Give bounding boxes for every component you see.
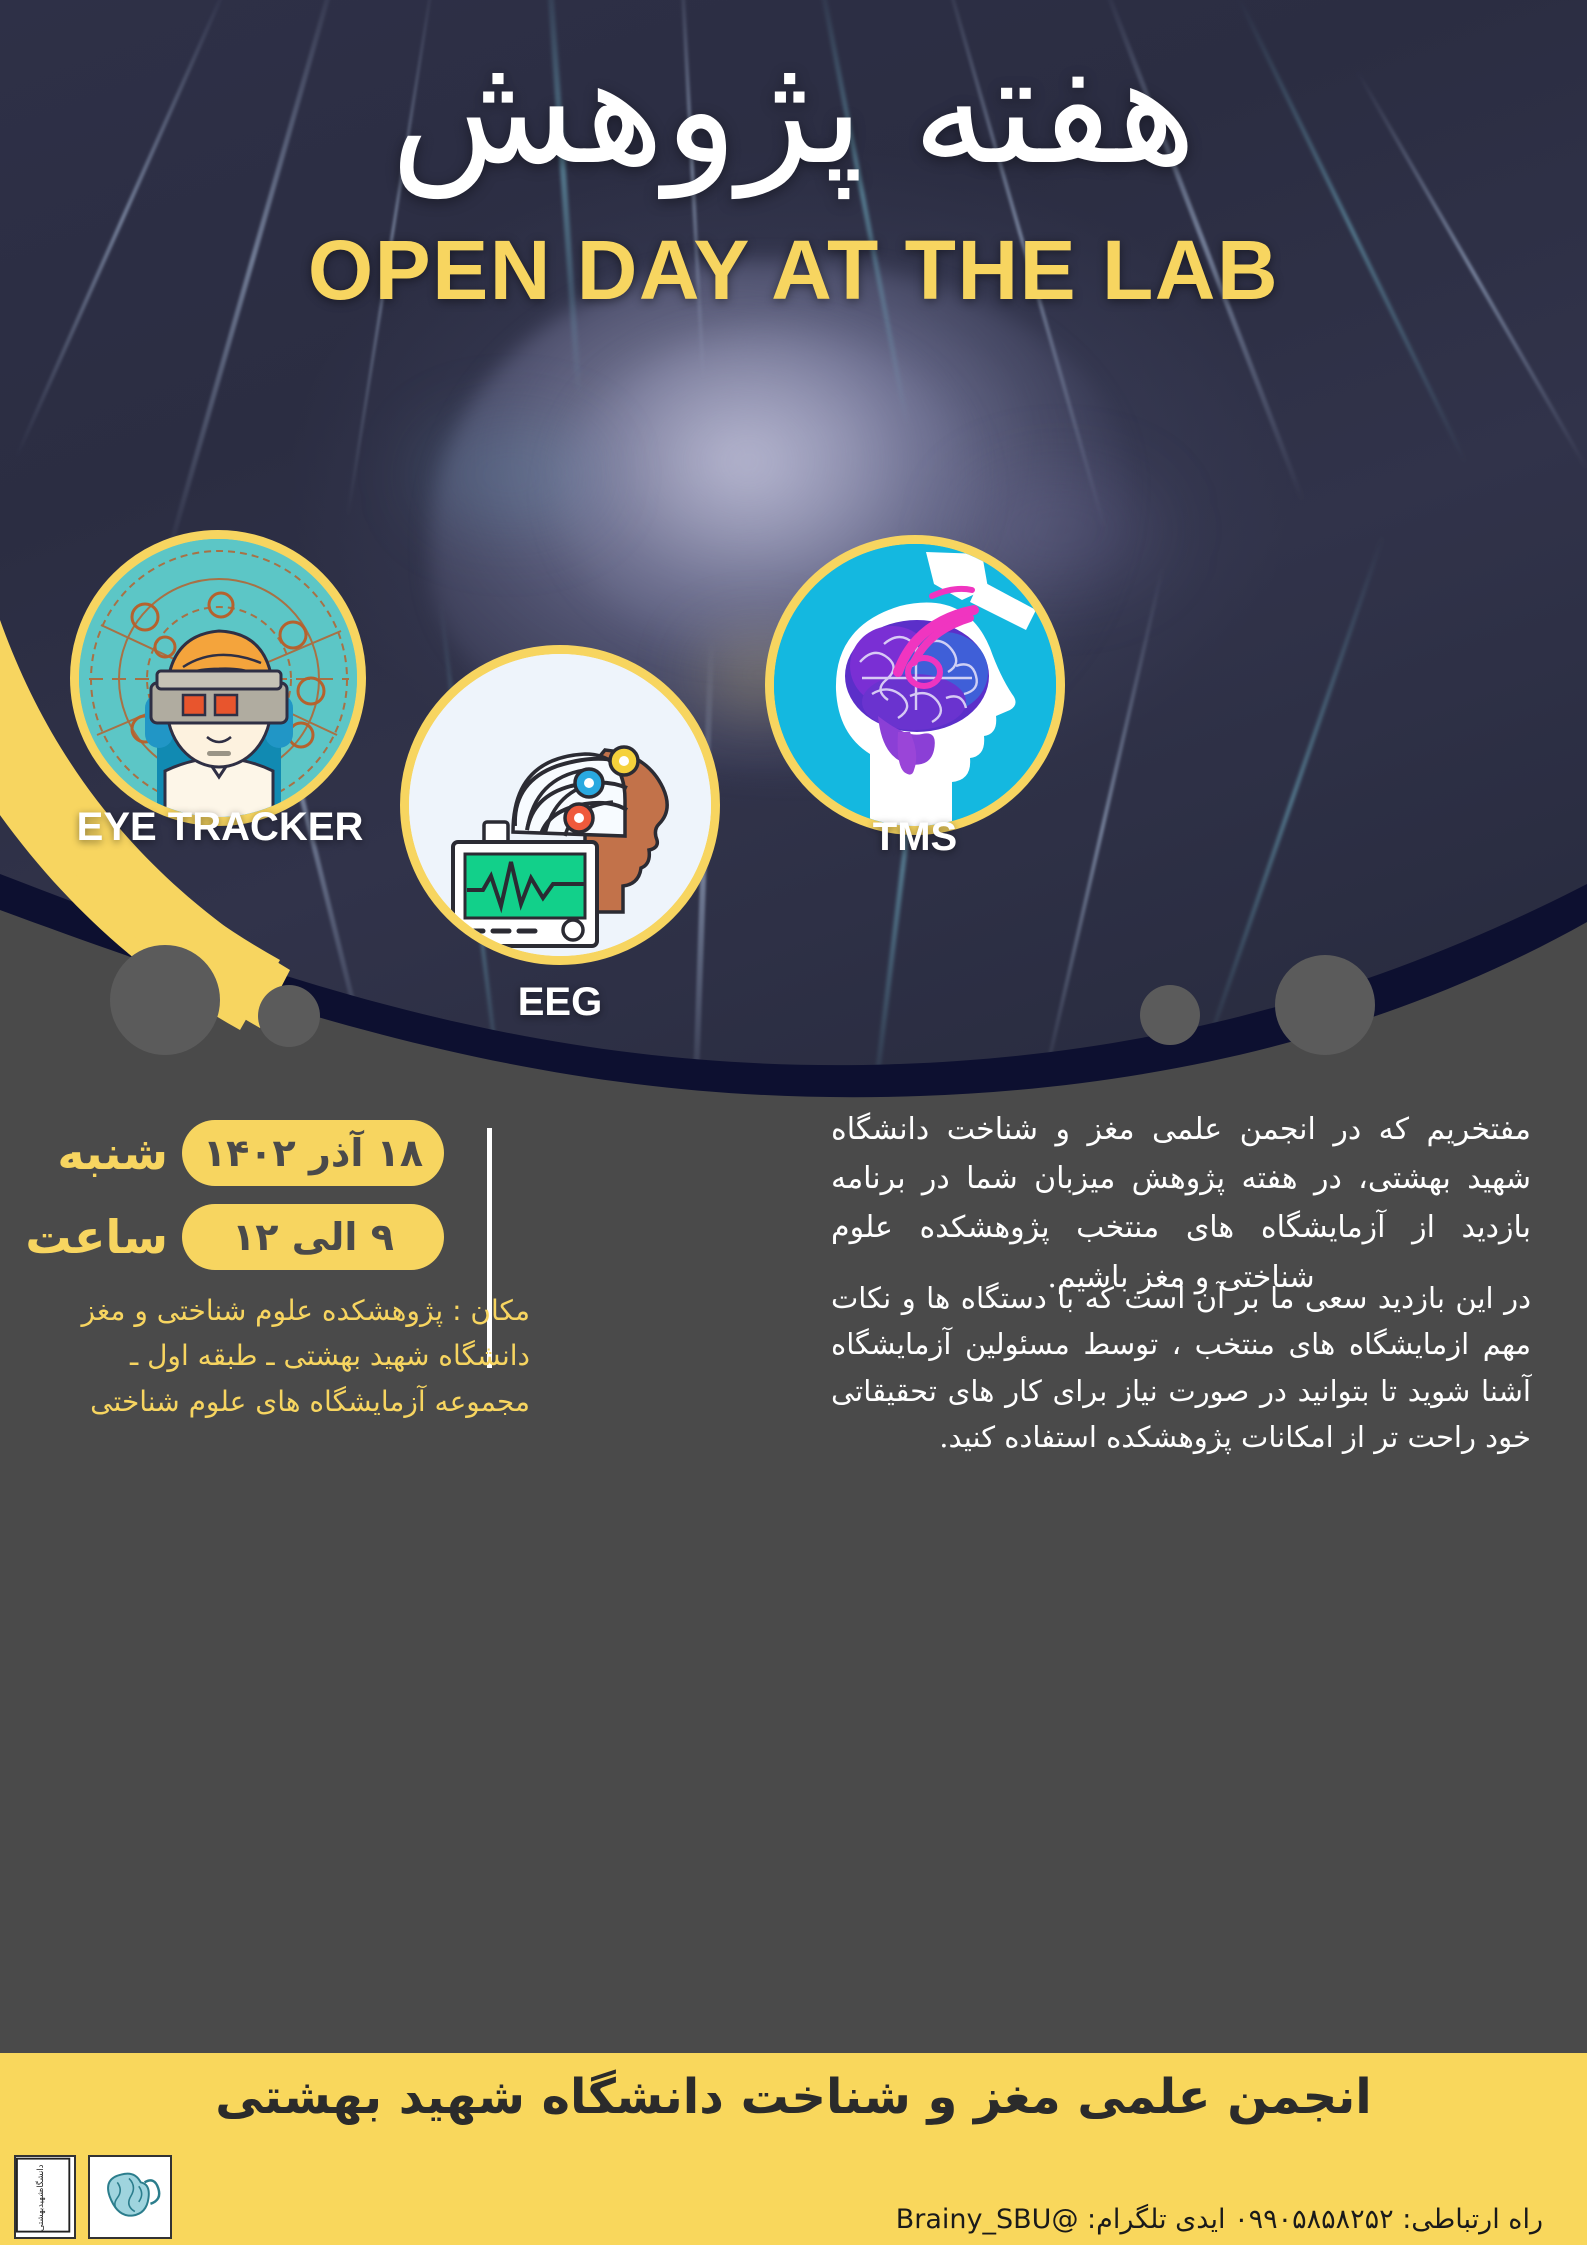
tms-icon <box>774 544 1056 826</box>
poster-root: هفته پژوهش OPEN DAY AT THE LAB <box>0 0 1587 2245</box>
footer-bar: انجمن علمی مغز و شناخت دانشگاه شهید بهشت… <box>0 2053 1587 2245</box>
decor-circle <box>1275 955 1375 1055</box>
icon-label-tms: TMS <box>765 815 1065 860</box>
event-info-block: ۱۸ آذر ۱۴۰۲ شنبه ۹ الی ۱۲ ساعت مکان : پژ… <box>50 1120 530 1424</box>
description-paragraph-1: مفتخریم که در انجمن علمی مغز و شناخت دان… <box>831 1105 1531 1302</box>
time-label: ساعت <box>50 1210 168 1264</box>
shahid-beheshti-university-logo: دانشگاه شهید بهشتی <box>14 2155 76 2239</box>
footer-organization: انجمن علمی مغز و شناخت دانشگاه شهید بهشت… <box>0 2069 1587 2125</box>
decor-circle <box>110 945 220 1055</box>
neuron-glow <box>420 420 600 530</box>
day-label: شنبه <box>50 1126 168 1180</box>
eye-tracker-icon <box>79 539 359 819</box>
decor-circle <box>258 985 320 1047</box>
brain-association-logo <box>88 2155 172 2239</box>
description-paragraph-2: در این بازدید سعی ما بر آن است که با دست… <box>831 1275 1531 1461</box>
page-title-english: OPEN DAY AT THE LAB <box>0 222 1587 319</box>
date-pill: ۱۸ آذر ۱۴۰۲ <box>182 1120 444 1186</box>
eeg-icon <box>409 654 711 956</box>
sbu-logo-icon: دانشگاه شهید بهشتی <box>16 2157 74 2237</box>
brain-logo-icon <box>90 2157 168 2235</box>
icon-label-eye-tracker: EYE TRACKER <box>70 805 370 850</box>
svg-text:دانشگاه: دانشگاه <box>35 2164 45 2192</box>
page-title-persian: هفته پژوهش <box>0 28 1587 192</box>
svg-text:بهشتی: بهشتی <box>35 2208 45 2231</box>
event-location: مکان : پژوهشکده علوم شناختی و مغز دانشگا… <box>50 1288 530 1424</box>
icon-circle-eye-tracker[interactable] <box>70 530 366 826</box>
time-pill: ۹ الی ۱۲ <box>182 1204 444 1270</box>
event-time-row: ۹ الی ۱۲ ساعت <box>50 1204 530 1270</box>
icon-label-eeg: EEG <box>400 980 720 1025</box>
event-date-row: ۱۸ آذر ۱۴۰۲ شنبه <box>50 1120 530 1186</box>
icon-circle-eeg[interactable] <box>400 645 720 965</box>
svg-text:شهید: شهید <box>35 2190 45 2208</box>
footer-contact-info: راه ارتباطی: ۰۹۹۰۵۸۵۸۲۵۲ ایدی تلگرام: @B… <box>896 2204 1543 2235</box>
decor-circle <box>1140 985 1200 1045</box>
icon-circle-tms[interactable] <box>765 535 1065 835</box>
